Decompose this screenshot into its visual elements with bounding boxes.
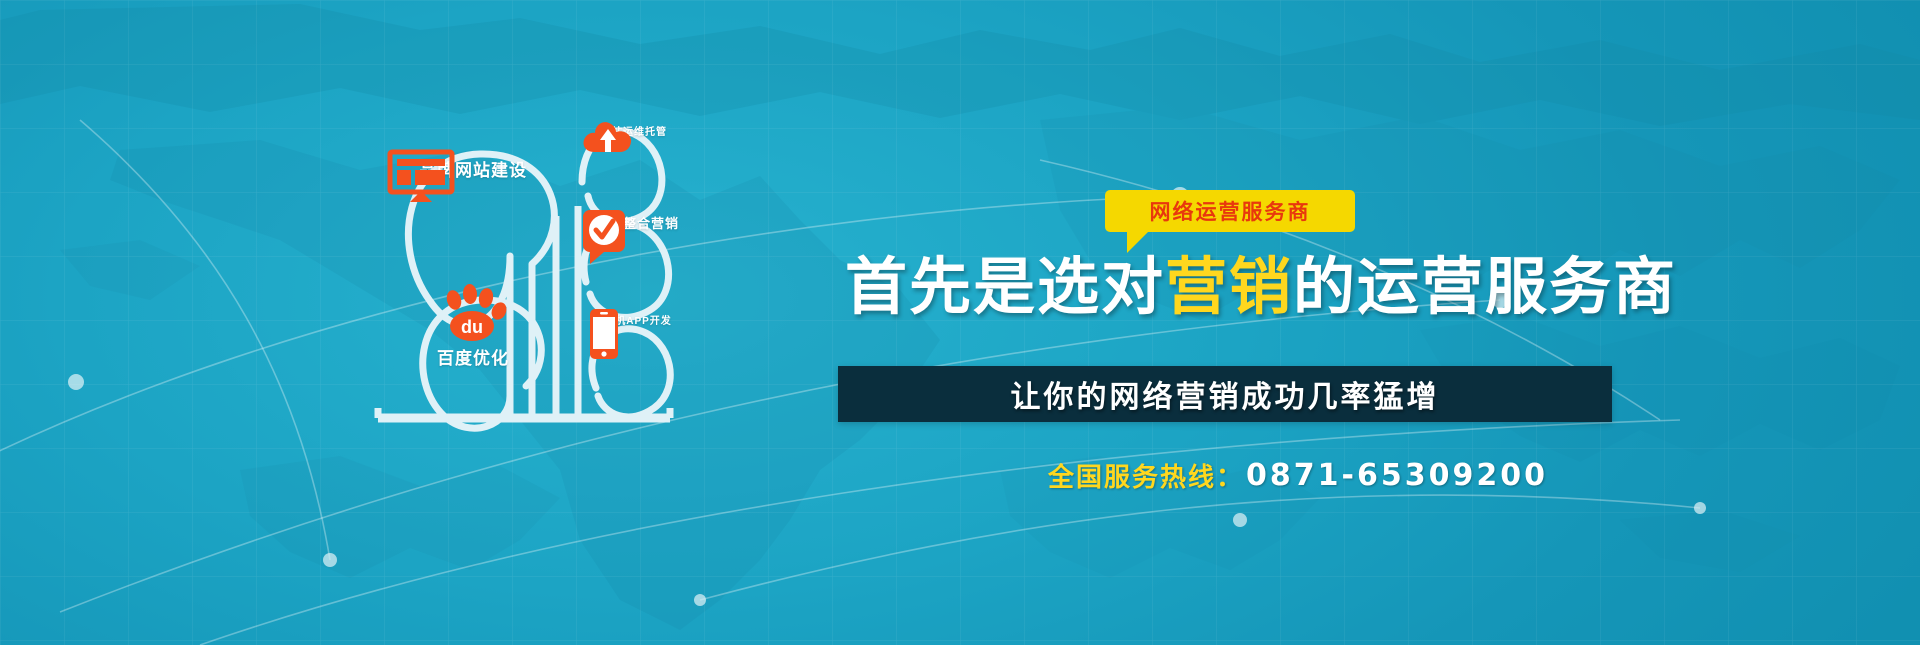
tree-node-baidu-seo[interactable]: du 百度优化 <box>398 286 548 369</box>
tree-node-app-development[interactable]: 手机APP开发 <box>588 308 688 327</box>
headline-highlight: 营销 <box>1165 253 1293 322</box>
banner-stage: 品牌网站建设 du 百度优化 <box>0 0 1920 645</box>
tree-node-brand-website[interactable]: 品牌网站建设 <box>388 150 558 181</box>
page-title: 首先是选对营销的运营服务商 <box>845 252 1605 324</box>
service-tree-graphic: 品牌网站建设 du 百度优化 <box>360 96 700 426</box>
hotline-label: 全国服务热线： <box>1048 457 1244 494</box>
baidu-paw-icon: du <box>438 286 508 342</box>
tree-node-site-ops[interactable]: 网站运维托管 <box>582 120 686 138</box>
subtitle-strip: 让你的网络营销成功几率猛增 <box>838 366 1612 422</box>
tree-node-label: 百度优化 <box>398 344 548 369</box>
headline-part-2: 的运营服务商 <box>1293 253 1677 322</box>
hotline: 全国服务热线： 0871-65309200 <box>1048 455 1548 495</box>
svg-text:du: du <box>461 317 483 337</box>
subtitle-strip-label: 让你的网络营销成功几率猛增 <box>1011 372 1440 416</box>
hotline-number[interactable]: 0871-65309200 <box>1246 458 1548 493</box>
tree-node-integrated-marketing[interactable]: 网络整合营销 <box>578 208 696 232</box>
service-badge: 网络运营服务商 <box>1105 190 1355 232</box>
service-badge-label: 网络运营服务商 <box>1150 196 1311 226</box>
headline-part-1: 首先是选对 <box>845 253 1165 322</box>
